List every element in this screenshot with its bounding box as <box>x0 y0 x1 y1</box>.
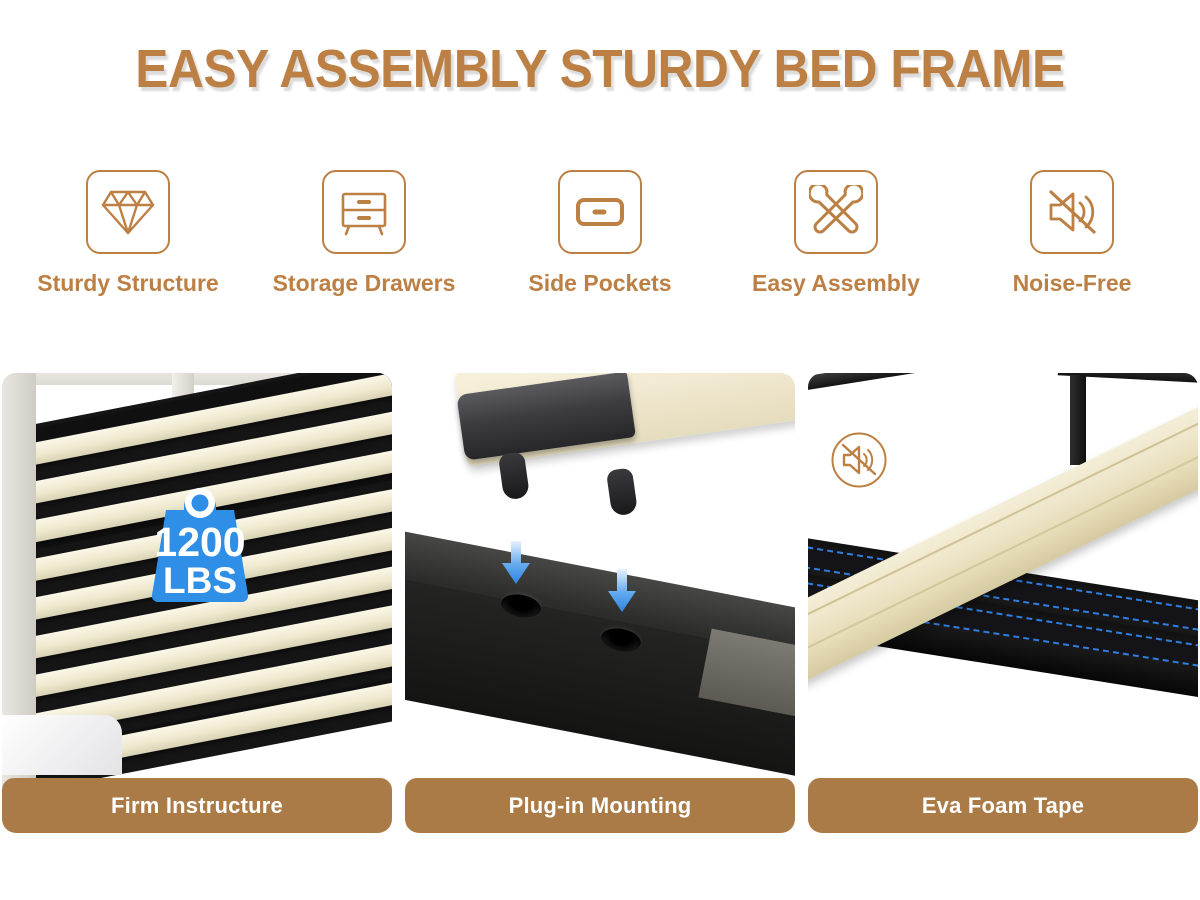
feature-label: Noise-Free <box>1013 270 1132 297</box>
side-pocket-icon <box>573 193 627 231</box>
arrow-down-icon <box>501 541 531 583</box>
diamond-icon <box>100 186 156 238</box>
feature-label: Side Pockets <box>528 270 671 297</box>
nightstand-drawers-icon <box>337 185 391 239</box>
feature-item-side-pockets: Side Pockets <box>486 170 714 297</box>
weight-value: 1200 <box>154 519 245 565</box>
muted-speaker-icon <box>1045 187 1099 237</box>
feature-item-noise-free: Noise-Free <box>958 170 1186 297</box>
panel-caption: Plug-in Mounting <box>405 778 795 833</box>
feature-item-easy-assembly: Easy Assembly <box>722 170 950 297</box>
page-title: EASY ASSEMBLY STURDY BED FRAME <box>48 38 1152 100</box>
panel-caption: Eva Foam Tape <box>808 778 1198 833</box>
panel-plug-in-mounting[interactable]: Plug-in Mounting <box>405 373 795 833</box>
eva-foam-tape-photo <box>808 373 1198 833</box>
feature-label: Easy Assembly <box>752 270 920 297</box>
feature-icon-box <box>1030 170 1114 254</box>
feature-icon-box <box>86 170 170 254</box>
arrow-down-icon <box>607 569 637 611</box>
muted-speaker-icon <box>830 431 888 489</box>
feature-icon-box <box>322 170 406 254</box>
weight-unit: LBS <box>163 560 237 601</box>
feature-icon-box <box>794 170 878 254</box>
feature-item-storage-drawers: Storage Drawers <box>250 170 478 297</box>
plug-in-mounting-photo <box>405 373 795 833</box>
wrench-screwdriver-icon <box>809 185 863 239</box>
weight-capacity-badge: 1200 LBS <box>140 473 260 608</box>
photo-panel-row: 1200 LBS Firm Instructure <box>0 373 1200 833</box>
feature-label: Storage Drawers <box>273 270 456 297</box>
feature-item-sturdy-structure: Sturdy Structure <box>14 170 242 297</box>
feature-icon-box <box>558 170 642 254</box>
feature-icon-row: Sturdy Structure Storage Drawers <box>0 170 1200 297</box>
panel-eva-foam-tape[interactable]: Eva Foam Tape <box>808 373 1198 833</box>
panel-caption: Firm Instructure <box>2 778 392 833</box>
panel-firm-instructure[interactable]: 1200 LBS Firm Instructure <box>2 373 392 833</box>
feature-label: Sturdy Structure <box>37 270 218 297</box>
